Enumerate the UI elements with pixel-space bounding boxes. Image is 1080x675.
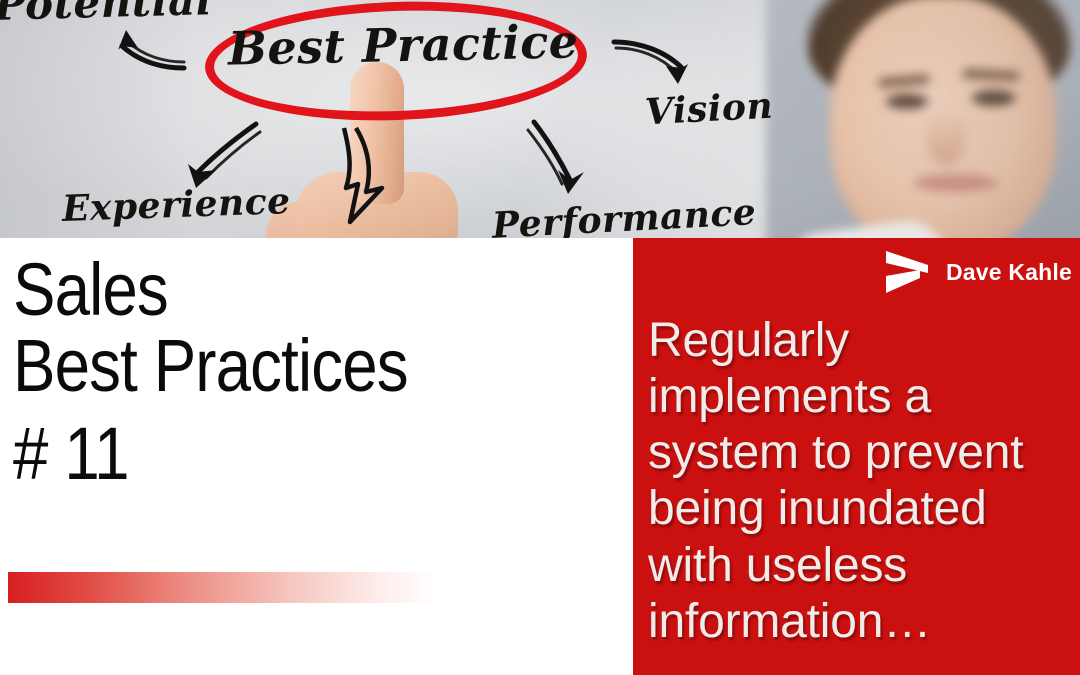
banner-label-experience: Experience [61, 180, 291, 230]
message-panel: Dave Kahle Regularly implements a system… [633, 238, 1080, 675]
arrow-down-center-icon [336, 126, 394, 230]
banner-label-best-practice: Best Practice [227, 14, 579, 75]
message-line-3: system to prevent [648, 425, 1080, 481]
slide-canvas: Potential Best Practice Vision Experienc… [0, 0, 1080, 675]
message-line-6: information… [648, 594, 1080, 650]
message-line-2: implements a [648, 369, 1080, 425]
title-line-2: Best Practices [13, 328, 538, 404]
message-text: Regularly implements a system to prevent… [648, 313, 1080, 650]
title-line-1: Sales [13, 252, 538, 328]
banner-image: Potential Best Practice Vision Experienc… [0, 0, 1080, 238]
title-panel: Sales Best Practices # 11 [0, 238, 633, 675]
chevron-arrow-logo-icon [882, 250, 934, 294]
title-line-3: # 11 [13, 416, 538, 492]
slide-title: Sales Best Practices # 11 [13, 252, 623, 493]
message-line-5: with useless [648, 538, 1080, 594]
arrow-to-performance-icon [528, 118, 602, 196]
arrow-to-vision-icon [612, 28, 704, 88]
banner-label-vision: Vision [644, 85, 774, 134]
message-line-4: being inundated [648, 481, 1080, 537]
accent-gradient-bar [8, 572, 436, 603]
brand-name: Dave Kahle [946, 259, 1072, 286]
brand-lockup: Dave Kahle [882, 250, 1072, 294]
message-line-1: Regularly [648, 313, 1080, 369]
